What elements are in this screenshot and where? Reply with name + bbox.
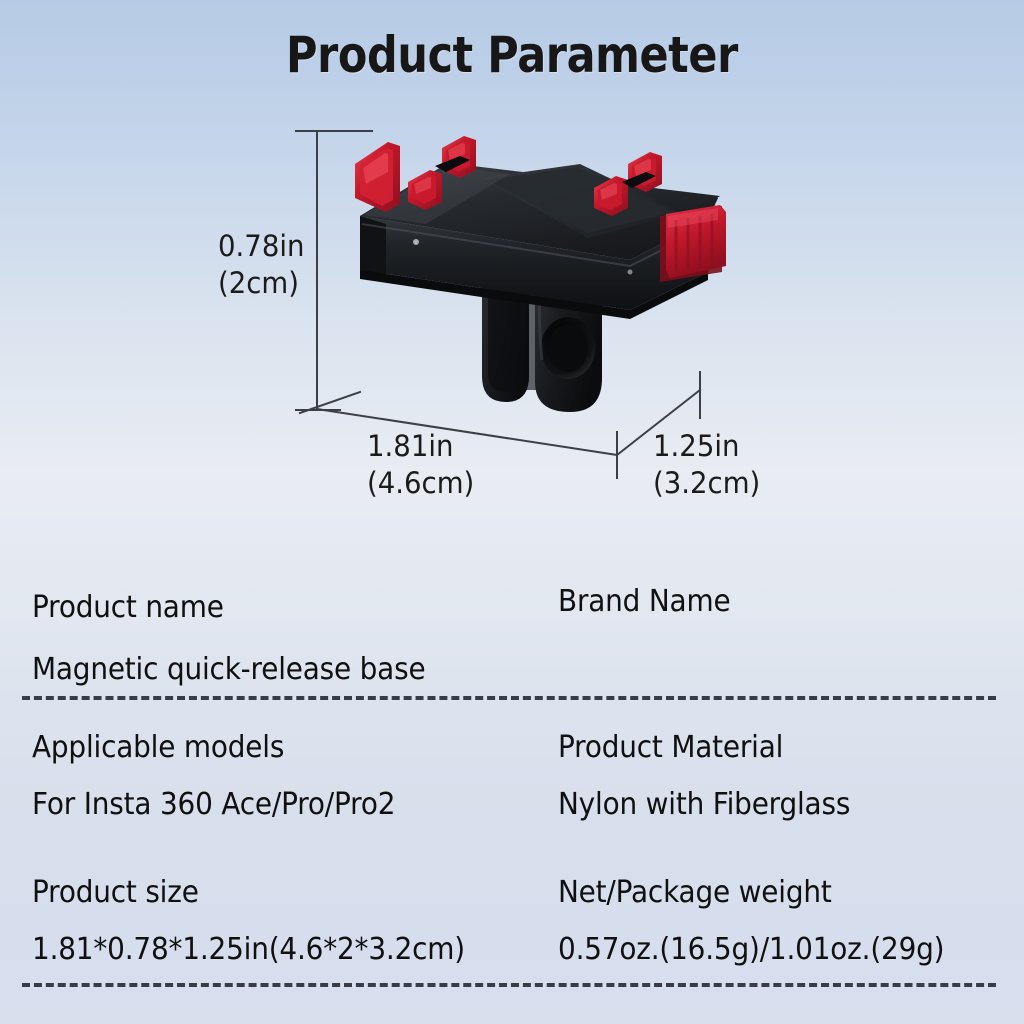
width-dimension-label: 1.81in (4.6cm): [367, 428, 474, 501]
spec-label: Product name: [32, 590, 506, 625]
spec-value: For Insta 360 Ace/Pro/Pro2: [32, 787, 506, 822]
spec-cell-net-package-weight: Net/Package weight 0.57oz.(16.5g)/1.01oz…: [558, 847, 1013, 967]
spec-value: Magnetic quick-release base: [32, 652, 506, 687]
spec-label: Brand Name: [558, 584, 981, 619]
spec-cell-applicable-models: Applicable models For Insta 360 Ace/Pro/…: [32, 702, 542, 822]
height-dimension-label: 0.78in (2cm): [218, 228, 304, 301]
product-image: [330, 120, 750, 420]
spec-cell-product-material: Product Material Nylon with Fiberglass: [558, 702, 1013, 822]
spec-table: Product name Magnetic quick-release base…: [0, 560, 1024, 989]
spec-value: 1.81*0.78*1.25in(4.6*2*3.2cm): [32, 932, 506, 967]
spec-row-product-name: Product name Magnetic quick-release base…: [0, 560, 1024, 702]
product-parameter-page: Product Parameter: [0, 0, 1024, 1024]
spec-cell-brand-name: Brand Name: [558, 560, 1013, 680]
release-button: [660, 205, 726, 282]
spec-row-applicable-models: Applicable models For Insta 360 Ace/Pro/…: [0, 702, 1024, 847]
spec-value: Nylon with Fiberglass: [558, 787, 981, 822]
spec-label: Product Material: [558, 730, 981, 765]
spec-value: [558, 646, 981, 680]
row-divider: [22, 696, 996, 700]
spec-label: Applicable models: [32, 730, 506, 765]
spec-label: Net/Package weight: [558, 875, 981, 910]
spec-row-product-size: Product size 1.81*0.78*1.25in(4.6*2*3.2c…: [0, 847, 1024, 989]
spec-label: Product size: [32, 875, 506, 910]
spec-cell-product-name: Product name Magnetic quick-release base: [32, 560, 542, 687]
spec-value: 0.57oz.(16.5g)/1.01oz.(29g): [558, 932, 981, 967]
depth-dimension-label: 1.25in (3.2cm): [653, 428, 760, 501]
spec-cell-product-size: Product size 1.81*0.78*1.25in(4.6*2*3.2c…: [32, 847, 542, 967]
